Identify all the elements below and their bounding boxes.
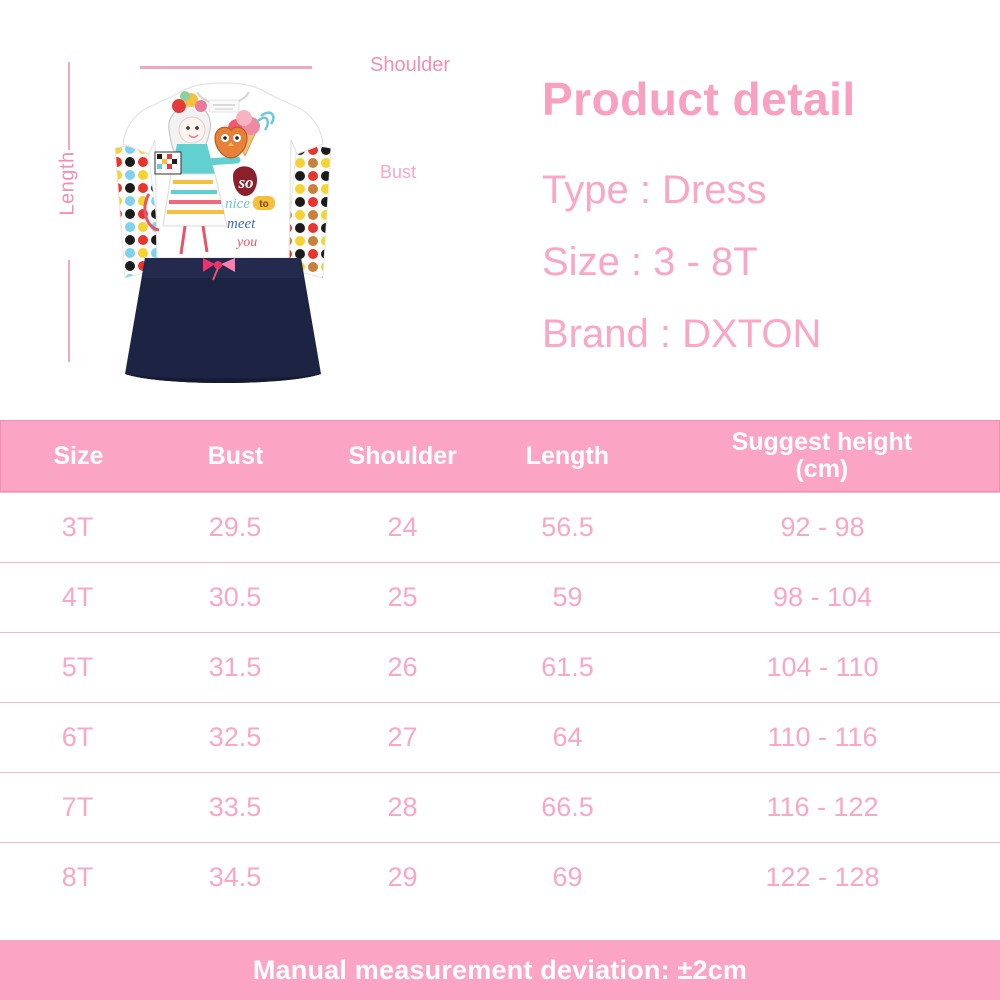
product-type-line: Type : Dress [542, 168, 767, 213]
cell-shoulder: 27 [315, 722, 490, 753]
table-row: 7T 33.5 28 66.5 116 - 122 [0, 772, 1000, 842]
column-header-suggest-height: Suggest height (cm) [645, 429, 999, 483]
column-header-length: Length [490, 443, 645, 470]
table-row: 6T 32.5 27 64 110 - 116 [0, 702, 1000, 772]
cell-shoulder: 25 [315, 582, 490, 613]
slogan-word-nice: nice [225, 196, 250, 212]
table-row: 4T 30.5 25 59 98 - 104 [0, 562, 1000, 632]
slogan-word-so: so [237, 173, 253, 192]
cell-length: 64 [490, 722, 645, 753]
cell-shoulder: 26 [315, 652, 490, 683]
cell-suggest-height: 104 - 110 [645, 652, 1000, 683]
cell-size: 6T [0, 722, 155, 753]
cell-bust: 33.5 [155, 792, 315, 823]
slogan-word-to: to [259, 199, 268, 210]
column-header-bust: Bust [156, 443, 316, 470]
measurement-deviation-banner: Manual measurement deviation: ±2cm [0, 940, 1000, 1000]
cell-bust: 29.5 [155, 512, 315, 543]
dress-product-image: so nice to meet you [85, 78, 375, 388]
table-row: 5T 31.5 26 61.5 104 - 110 [0, 632, 1000, 702]
product-size-line: Size : 3 - 8T [542, 240, 758, 285]
right-sleeve [285, 142, 331, 278]
slogan-word-meet: meet [227, 216, 256, 232]
cell-suggest-height: 116 - 122 [645, 792, 1000, 823]
navy-skirt [125, 258, 321, 383]
bust-measure-label: Bust [380, 162, 416, 183]
table-row: 3T 29.5 24 56.5 92 - 98 [0, 492, 1000, 562]
cell-suggest-height: 122 - 128 [645, 862, 1000, 893]
column-header-size: Size [1, 443, 156, 470]
cell-bust: 31.5 [155, 652, 315, 683]
shoulder-measure-label: Shoulder [370, 54, 450, 77]
size-chart-table: Size Bust Shoulder Length Suggest height… [0, 420, 1000, 912]
table-row: 8T 34.5 29 69 122 - 128 [0, 842, 1000, 912]
cell-length: 66.5 [490, 792, 645, 823]
cell-suggest-height: 98 - 104 [645, 582, 1000, 613]
product-brand-line: Brand : DXTON [542, 312, 821, 357]
cell-bust: 32.5 [155, 722, 315, 753]
cell-shoulder: 28 [315, 792, 490, 823]
cell-size: 8T [0, 862, 155, 893]
column-header-suggest-height-line1: Suggest height [645, 429, 999, 456]
shoulder-measure-line [140, 66, 312, 69]
cell-bust: 34.5 [155, 862, 315, 893]
cell-size: 4T [0, 582, 155, 613]
cell-length: 56.5 [490, 512, 645, 543]
cell-bust: 30.5 [155, 582, 315, 613]
slogan-word-you: you [235, 235, 257, 250]
table-header-row: Size Bust Shoulder Length Suggest height… [0, 420, 1000, 492]
cell-size: 7T [0, 792, 155, 823]
cell-shoulder: 29 [315, 862, 490, 893]
cell-length: 61.5 [490, 652, 645, 683]
brand-tag [209, 100, 239, 112]
column-header-suggest-height-line2: (cm) [645, 456, 999, 483]
cell-length: 69 [490, 862, 645, 893]
cell-size: 3T [0, 512, 155, 543]
cell-length: 59 [490, 582, 645, 613]
product-detail-title: Product detail [542, 72, 856, 126]
measurement-deviation-text: Manual measurement deviation: ±2cm [253, 955, 747, 986]
length-measure-label: Length [57, 149, 80, 219]
product-detail-page: Length Shoulder Bust [0, 0, 1000, 1000]
cell-suggest-height: 110 - 116 [645, 722, 1000, 753]
cell-suggest-height: 92 - 98 [645, 512, 1000, 543]
cell-size: 5T [0, 652, 155, 683]
cell-shoulder: 24 [315, 512, 490, 543]
column-header-shoulder: Shoulder [315, 443, 490, 470]
product-image-section: Length Shoulder Bust [0, 0, 1000, 420]
